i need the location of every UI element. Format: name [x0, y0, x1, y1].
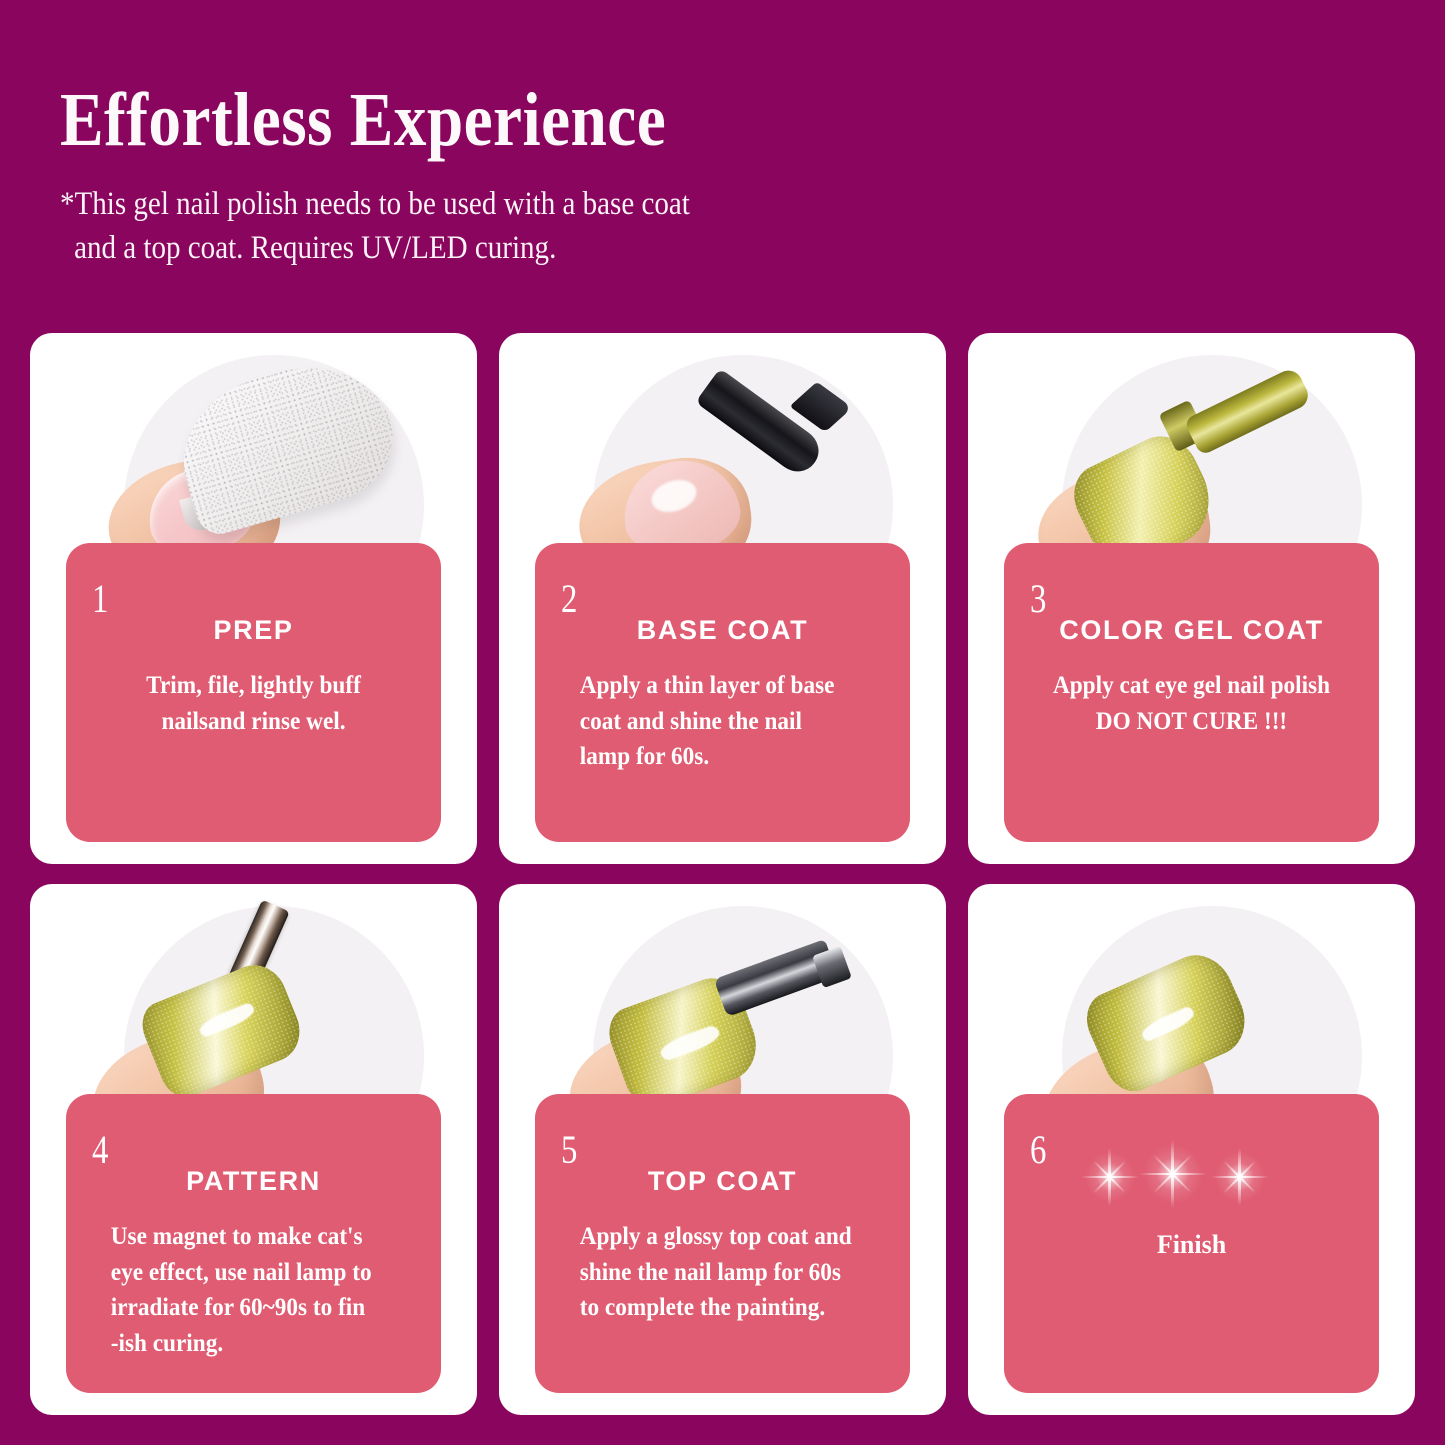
step-number: 6 [1030, 1130, 1046, 1170]
steps-grid: 1 PREP Trim, file, lightly buff nailsand… [30, 333, 1415, 1415]
step-card-6: 6 [968, 884, 1415, 1415]
step-card-4: 4 PATTERN Use magnet to make cat's eye e… [30, 884, 477, 1415]
step-info-panel: 3 COLOR GEL COAT Apply cat eye gel nail … [1004, 543, 1379, 842]
finish-block: Finish [1030, 1134, 1353, 1260]
step-description: Apply cat eye gel nail polish DO NOT CUR… [1041, 668, 1341, 739]
step-card-3: 3 COLOR GEL COAT Apply cat eye gel nail … [968, 333, 1415, 864]
buffer-block-icon [165, 346, 407, 539]
step-title: PATTERN [92, 1166, 415, 1197]
step-info-panel: 2 BASE COAT Apply a thin layer of base c… [535, 543, 910, 842]
sparkle-icon [1139, 1140, 1207, 1208]
step-title: BASE COAT [561, 615, 884, 646]
step-info-panel: 1 PREP Trim, file, lightly buff nailsand… [66, 543, 441, 842]
step-info-panel: 6 [1004, 1094, 1379, 1393]
step-info-panel: 4 PATTERN Use magnet to make cat's eye e… [66, 1094, 441, 1393]
step-card-1: 1 PREP Trim, file, lightly buff nailsand… [30, 333, 477, 864]
step-title: COLOR GEL COAT [1030, 615, 1353, 646]
step-card-2: 2 BASE COAT Apply a thin layer of base c… [499, 333, 946, 864]
step-card-5: 5 TOP COAT Apply a glossy top coat and s… [499, 884, 946, 1415]
gel-brush-handle-icon [1184, 366, 1313, 456]
step-number: 5 [561, 1130, 577, 1170]
infographic-poster: Effortless Experience *This gel nail pol… [0, 0, 1445, 1445]
subtitle-line-1: *This gel nail polish needs to be used w… [60, 186, 690, 222]
step-number: 1 [92, 579, 108, 619]
page-title: Effortless Experience [60, 82, 1006, 160]
step-description: Apply a glossy top coat and shine the na… [572, 1219, 872, 1326]
header: Effortless Experience *This gel nail pol… [60, 82, 1160, 270]
step-number: 4 [92, 1130, 108, 1170]
step-title: PREP [92, 615, 415, 646]
step-description: Use magnet to make cat's eye effect, use… [103, 1219, 403, 1361]
step-description: Apply a thin layer of base coat and shin… [572, 668, 872, 775]
finish-label: Finish [1157, 1230, 1226, 1260]
sparkle-icon [1081, 1148, 1139, 1206]
step-description: Trim, file, lightly buff nailsand rinse … [103, 668, 403, 739]
step-title: TOP COAT [561, 1166, 884, 1197]
sparkle-group [1077, 1134, 1307, 1220]
step-number: 2 [561, 579, 577, 619]
step-number: 3 [1030, 579, 1046, 619]
step-info-panel: 5 TOP COAT Apply a glossy top coat and s… [535, 1094, 910, 1393]
sparkle-icon [1211, 1148, 1269, 1206]
page-subtitle: *This gel nail polish needs to be used w… [60, 182, 1028, 270]
subtitle-line-2: and a top coat. Requires UV/LED curing. [60, 226, 1028, 270]
